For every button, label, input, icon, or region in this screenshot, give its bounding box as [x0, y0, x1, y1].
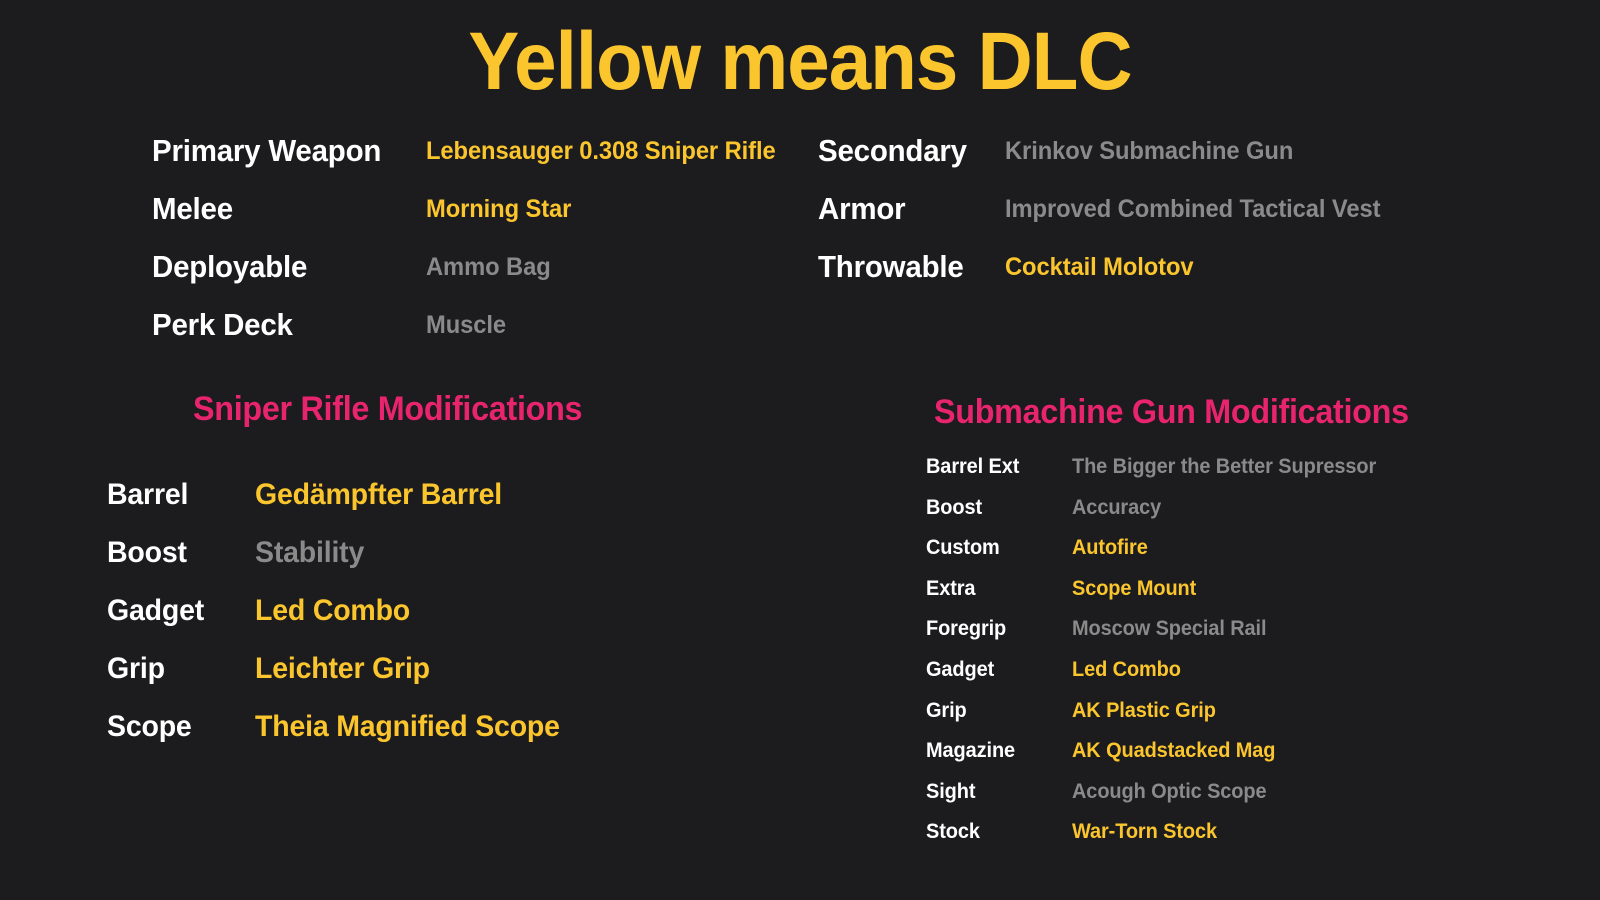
loadout-left-value[interactable]: Ammo Bag — [426, 244, 551, 290]
smg-mod-row: BoostAccuracy — [926, 491, 1032, 532]
sniper-mod-row: GripLeichter Grip — [107, 646, 209, 704]
sniper-mod-label: Barrel — [107, 472, 188, 518]
smg-mod-label: Sight — [926, 775, 1027, 809]
smg-mod-value[interactable]: AK Plastic Grip — [1072, 694, 1216, 728]
smg-mod-label: Gadget — [926, 653, 1027, 687]
smg-mod-value[interactable]: War-Torn Stock — [1072, 815, 1217, 849]
loadout-right-value[interactable]: Improved Combined Tactical Vest — [1005, 186, 1380, 232]
sniper-mod-value[interactable]: Led Combo — [255, 588, 410, 634]
smg-mod-label: Grip — [926, 694, 1027, 728]
section-header-smg: Submachine Gun Modifications — [934, 392, 1409, 432]
loadout-left-value[interactable]: Morning Star — [426, 186, 571, 232]
smg-mod-row: MagazineAK Quadstacked Mag — [926, 734, 1032, 775]
smg-mod-row: Barrel ExtThe Bigger the Better Supresso… — [926, 450, 1032, 491]
loadout-right-value[interactable]: Krinkov Submachine Gun — [1005, 128, 1293, 174]
submachine-gun-modifications-list: Barrel ExtThe Bigger the Better Supresso… — [926, 450, 1032, 856]
smg-mod-label: Boost — [926, 491, 1027, 525]
loadout-left-label: Perk Deck — [152, 302, 293, 348]
smg-mod-value[interactable]: Led Combo — [1072, 653, 1181, 687]
loadout-column-left: Primary WeaponLebensauger 0.308 Sniper R… — [152, 128, 393, 360]
page-title: Yellow means DLC — [56, 14, 1544, 110]
smg-mod-row: StockWar-Torn Stock — [926, 815, 1032, 856]
smg-mod-label: Barrel Ext — [926, 450, 1027, 484]
section-header-sniper: Sniper Rifle Modifications — [193, 389, 582, 429]
sniper-mod-value[interactable]: Gedämpfter Barrel — [255, 472, 502, 518]
smg-mod-label: Stock — [926, 815, 1027, 849]
loadout-screen: Yellow means DLC Primary WeaponLebensaug… — [0, 0, 1600, 900]
loadout-left-value[interactable]: Muscle — [426, 302, 506, 348]
loadout-right-row: ArmorImproved Combined Tactical Vest — [818, 186, 975, 244]
loadout-left-row: Perk DeckMuscle — [152, 302, 393, 360]
smg-mod-value[interactable]: Acough Optic Scope — [1072, 775, 1266, 809]
sniper-mod-label: Scope — [107, 704, 192, 750]
loadout-right-row: ThrowableCocktail Molotov — [818, 244, 975, 302]
smg-mod-label: Foregrip — [926, 612, 1027, 646]
loadout-right-value[interactable]: Cocktail Molotov — [1005, 244, 1194, 290]
sniper-mod-row: BarrelGedämpfter Barrel — [107, 472, 209, 530]
sniper-rifle-modifications-list: BarrelGedämpfter BarrelBoostStabilityGad… — [107, 472, 209, 762]
smg-mod-value[interactable]: Autofire — [1072, 531, 1148, 565]
sniper-mod-value[interactable]: Theia Magnified Scope — [255, 704, 560, 750]
sniper-mod-row: BoostStability — [107, 530, 209, 588]
smg-mod-label: Magazine — [926, 734, 1027, 768]
loadout-left-label: Melee — [152, 186, 233, 232]
sniper-mod-label: Grip — [107, 646, 165, 692]
smg-mod-label: Extra — [926, 572, 1027, 606]
loadout-left-row: MeleeMorning Star — [152, 186, 393, 244]
smg-mod-row: ExtraScope Mount — [926, 572, 1032, 613]
loadout-left-row: DeployableAmmo Bag — [152, 244, 393, 302]
smg-mod-value[interactable]: Moscow Special Rail — [1072, 612, 1266, 646]
loadout-right-label: Secondary — [818, 128, 967, 174]
loadout-column-right: SecondaryKrinkov Submachine GunArmorImpr… — [818, 128, 975, 302]
smg-mod-row: ForegripMoscow Special Rail — [926, 612, 1032, 653]
loadout-right-label: Armor — [818, 186, 905, 232]
smg-mod-row: GripAK Plastic Grip — [926, 694, 1032, 735]
smg-mod-value[interactable]: Accuracy — [1072, 491, 1161, 525]
smg-mod-row: CustomAutofire — [926, 531, 1032, 572]
smg-mod-row: SightAcough Optic Scope — [926, 775, 1032, 816]
sniper-mod-value[interactable]: Leichter Grip — [255, 646, 430, 692]
sniper-mod-row: GadgetLed Combo — [107, 588, 209, 646]
smg-mod-value[interactable]: AK Quadstacked Mag — [1072, 734, 1275, 768]
loadout-left-value[interactable]: Lebensauger 0.308 Sniper Rifle — [426, 128, 776, 174]
loadout-left-label: Primary Weapon — [152, 128, 381, 174]
loadout-left-row: Primary WeaponLebensauger 0.308 Sniper R… — [152, 128, 393, 186]
loadout-right-label: Throwable — [818, 244, 964, 290]
sniper-mod-row: ScopeTheia Magnified Scope — [107, 704, 209, 762]
smg-mod-value[interactable]: Scope Mount — [1072, 572, 1196, 606]
smg-mod-value[interactable]: The Bigger the Better Supressor — [1072, 450, 1376, 484]
smg-mod-row: GadgetLed Combo — [926, 653, 1032, 694]
loadout-right-row: SecondaryKrinkov Submachine Gun — [818, 128, 975, 186]
loadout-left-label: Deployable — [152, 244, 307, 290]
sniper-mod-value[interactable]: Stability — [255, 530, 364, 576]
sniper-mod-label: Gadget — [107, 588, 204, 634]
sniper-mod-label: Boost — [107, 530, 187, 576]
smg-mod-label: Custom — [926, 531, 1027, 565]
